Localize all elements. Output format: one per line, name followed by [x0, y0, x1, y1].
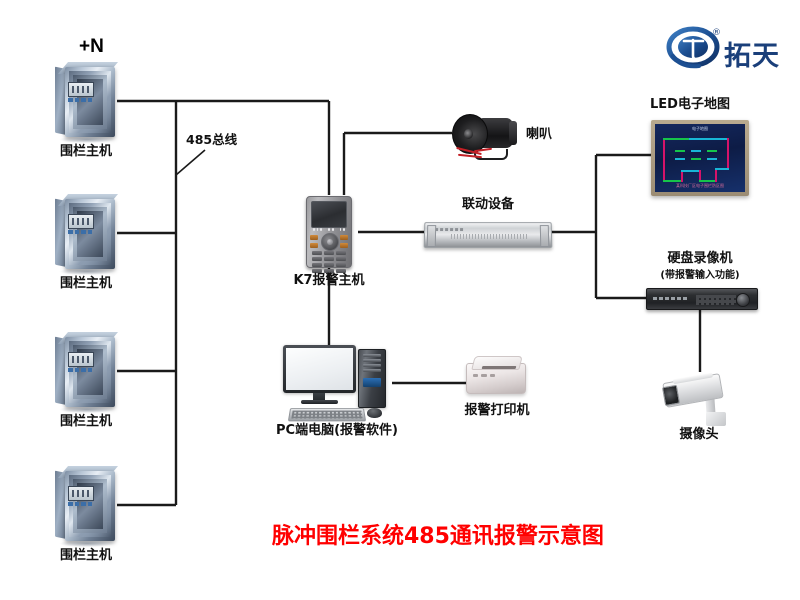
dvr-front-buttons[interactable]	[696, 295, 736, 305]
pc[interactable]	[283, 345, 391, 423]
k7-function-key-right[interactable]	[340, 235, 348, 240]
k7-screen	[311, 201, 347, 228]
rack-chassis	[424, 222, 553, 248]
k7-function-key-left[interactable]	[310, 235, 318, 240]
k7-function-key-left2[interactable]	[310, 243, 318, 248]
camera[interactable]	[662, 372, 736, 434]
k7-function-key-right2[interactable]	[340, 243, 348, 248]
enclosure-face	[65, 67, 115, 137]
rack-ear-right	[540, 225, 550, 247]
dvr-sublabel: (带报警输入功能)	[638, 270, 762, 282]
led-map[interactable]: 电子地图 某科技厂区电子围栏防区图	[651, 120, 749, 196]
fence-host-2[interactable]	[55, 194, 117, 272]
led-map-footer: 某科技厂区电子围栏防区图	[676, 183, 724, 189]
fence-host-3[interactable]	[55, 332, 117, 410]
dvr-label: 硬盘录像机	[638, 252, 762, 267]
brand-logo: ® 拓天	[666, 26, 786, 74]
k7-navigation-pad[interactable]	[321, 233, 339, 251]
camera-label: 摄像头	[660, 428, 738, 443]
multiplier-label: +N	[79, 36, 104, 58]
printer-buttons[interactable]	[473, 374, 495, 377]
brand-name: 拓天	[724, 34, 780, 73]
dvr-jog-dial[interactable]	[736, 293, 750, 307]
printer[interactable]	[466, 355, 528, 395]
pc-label: PC端电脑(报警软件)	[258, 424, 416, 439]
bus-label: 485总线	[186, 133, 237, 147]
diagram-title: 脉冲围栏系统485通讯报警示意图	[272, 518, 604, 550]
monitor-base	[301, 400, 338, 404]
dvr[interactable]	[646, 288, 758, 310]
k7-alarm-host-label: K7报警主机	[284, 274, 374, 289]
printer-paper-slot	[482, 366, 517, 369]
led-map-label: LED电子地图	[635, 98, 745, 113]
fence-host-lcd	[68, 486, 94, 501]
fence-host-1-label: 围栏主机	[55, 145, 117, 160]
k7-alarm-host[interactable]	[306, 196, 352, 268]
pc-tower[interactable]	[358, 349, 386, 408]
rack-vents	[451, 234, 527, 239]
fence-host-lcd	[68, 82, 94, 97]
speaker-label: 喇叭	[514, 128, 564, 143]
fence-host-lcd	[68, 214, 94, 229]
fence-host-2-label: 围栏主机	[55, 277, 117, 292]
k7-status-leds	[313, 228, 345, 231]
fence-host-buttons[interactable]	[68, 368, 92, 372]
k7-keypad[interactable]	[312, 251, 346, 273]
diagram-canvas: ® 拓天 +N 485总线 围栏主机 围栏主机 围栏主机	[0, 0, 800, 600]
linkage-device-label: 联动设备	[440, 198, 536, 213]
fence-host-4-label: 围栏主机	[55, 549, 117, 564]
dvr-branding	[653, 297, 689, 300]
fence-host-lcd	[68, 352, 94, 367]
camera-sunshade	[673, 372, 713, 384]
camera-lens	[662, 385, 680, 406]
horn-wires	[456, 148, 498, 159]
keyboard[interactable]	[288, 408, 366, 421]
fence-host-buttons[interactable]	[68, 98, 92, 102]
trademark-symbol: ®	[712, 28, 721, 38]
monitor[interactable]	[283, 345, 356, 393]
fence-host-1[interactable]	[55, 62, 117, 140]
fence-host-buttons[interactable]	[68, 502, 92, 506]
linkage-device[interactable]	[424, 222, 552, 248]
mouse[interactable]	[367, 408, 382, 418]
led-map-screen: 电子地图 某科技厂区电子围栏防区图	[655, 124, 745, 192]
monitor-screen	[286, 348, 353, 390]
fence-host-3-label: 围栏主机	[55, 415, 117, 430]
led-map-header: 电子地图	[692, 126, 708, 132]
fence-host-buttons[interactable]	[68, 230, 92, 234]
rack-branding	[435, 228, 465, 231]
camera-wall-plate	[706, 412, 726, 426]
printer-label: 报警打印机	[445, 404, 549, 419]
tower-front-panel	[363, 378, 381, 387]
fence-host-4[interactable]	[55, 466, 117, 544]
